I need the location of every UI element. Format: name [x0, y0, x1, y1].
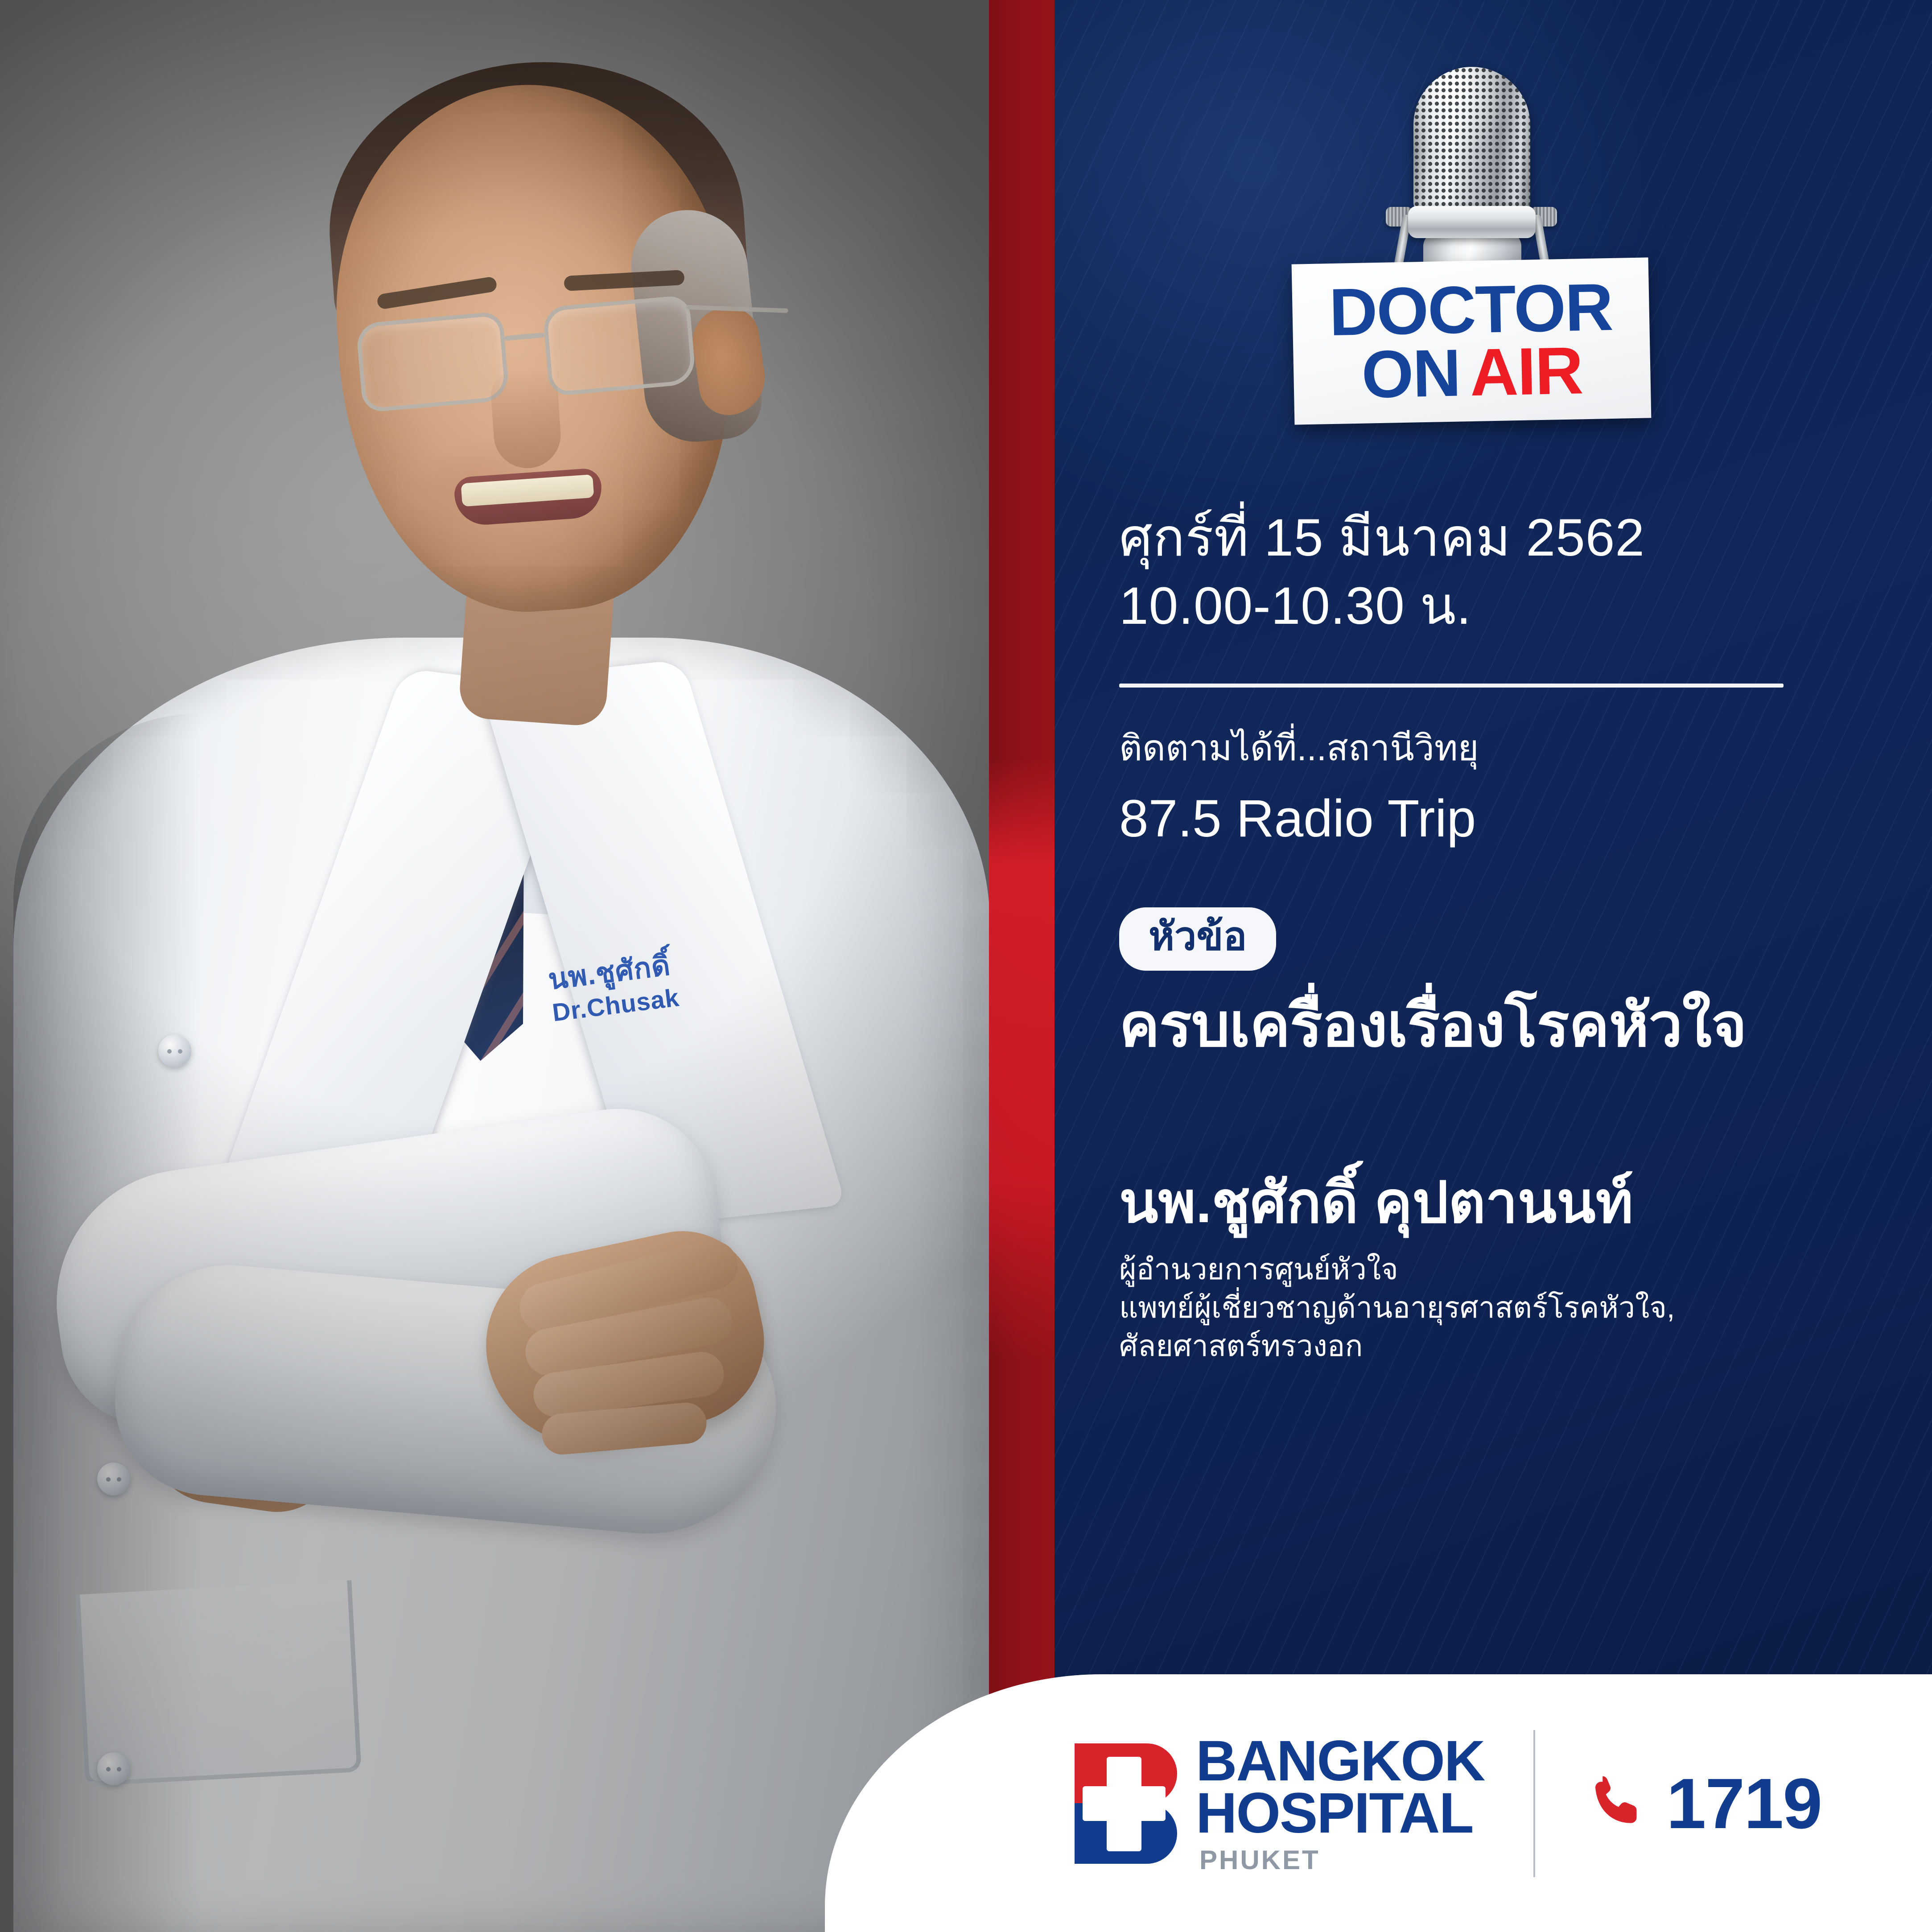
- teeth: [461, 474, 594, 507]
- sign-word-on: ON: [1361, 335, 1461, 412]
- microphone-icon: [1387, 67, 1556, 276]
- red-divider-stripe: [989, 0, 1056, 1932]
- speaker-name: นพ.ชูศักดิ์ คุปตานนท์: [1119, 1167, 1833, 1239]
- glasses-bridge: [504, 333, 545, 341]
- coat-button: [97, 1752, 130, 1785]
- doctor-on-air-poster: นพ.ชูศักดิ์ Dr.Chusak: [0, 0, 1932, 1932]
- coat-button: [158, 1034, 191, 1067]
- mic-grille: [1413, 67, 1530, 214]
- red-stripe-highlight: [989, 758, 1056, 1360]
- footer-vertical-separator: [1533, 1730, 1535, 1877]
- radio-station: 87.5 Radio Trip: [1119, 787, 1833, 851]
- section-divider: [1119, 684, 1784, 688]
- broadcast-date: ศุกร์ที่ 15 มีนาคม 2562: [1119, 504, 1833, 572]
- brand-wordmark: BANGKOK HOSPITAL PHUKET: [1196, 1735, 1484, 1873]
- hotline-block[interactable]: 1719: [1584, 1768, 1821, 1839]
- broadcast-time: 10.00-10.30 น.: [1119, 572, 1833, 640]
- speaker-credential: ศัลยศาสตร์ทรวงอก: [1119, 1327, 1833, 1365]
- mic-collar-ring: [1408, 206, 1536, 238]
- doctor-photo-pane: นพ.ชูศักดิ์ Dr.Chusak: [0, 0, 992, 1932]
- doctor-on-air-sign: DOCTOR ONAIR: [1292, 257, 1652, 424]
- lens-left: [355, 311, 510, 413]
- topic-badge: หัวข้อ: [1119, 907, 1276, 970]
- coat-button: [97, 1462, 130, 1495]
- logo-cross-horizontal: [1083, 1786, 1166, 1821]
- bangkok-hospital-logo: BANGKOK HOSPITAL PHUKET: [1075, 1735, 1484, 1873]
- brand-word-hospital: HOSPITAL: [1196, 1787, 1484, 1840]
- follow-label: ติดตามได้ที่...สถานีวิทยุ: [1119, 727, 1833, 770]
- topic-title: ครบเครื่องเรื่องโรคหัวใจ: [1119, 989, 1833, 1063]
- brand-word-bangkok: BANGKOK: [1196, 1735, 1484, 1788]
- lens-right: [542, 295, 696, 396]
- doctor-portrait-image: นพ.ชูศักดิ์ Dr.Chusak: [0, 0, 992, 1932]
- brand-location-phuket: PHUKET: [1199, 1848, 1484, 1872]
- phone-handset-icon: [1584, 1769, 1651, 1838]
- footer-bar: BANGKOK HOSPITAL PHUKET 1719: [825, 1674, 1932, 1932]
- program-details: ศุกร์ที่ 15 มีนาคม 2562 10.00-10.30 น. ต…: [1119, 504, 1833, 1365]
- sign-line-on-air: ONAIR: [1361, 339, 1583, 406]
- hotline-number: 1719: [1666, 1768, 1821, 1839]
- speaker-credential: ผู้อำนวยการศูนย์หัวใจ: [1119, 1250, 1833, 1289]
- mic-mesh-dots: [1413, 67, 1530, 214]
- speaker-credential: แพทย์ผู้เชี่ยวชาญด้านอายุรศาสตร์โรคหัวใจ…: [1119, 1289, 1833, 1327]
- bangkok-hospital-b-cross-logo: [1075, 1743, 1177, 1864]
- sign-word-air: AIR: [1469, 333, 1583, 410]
